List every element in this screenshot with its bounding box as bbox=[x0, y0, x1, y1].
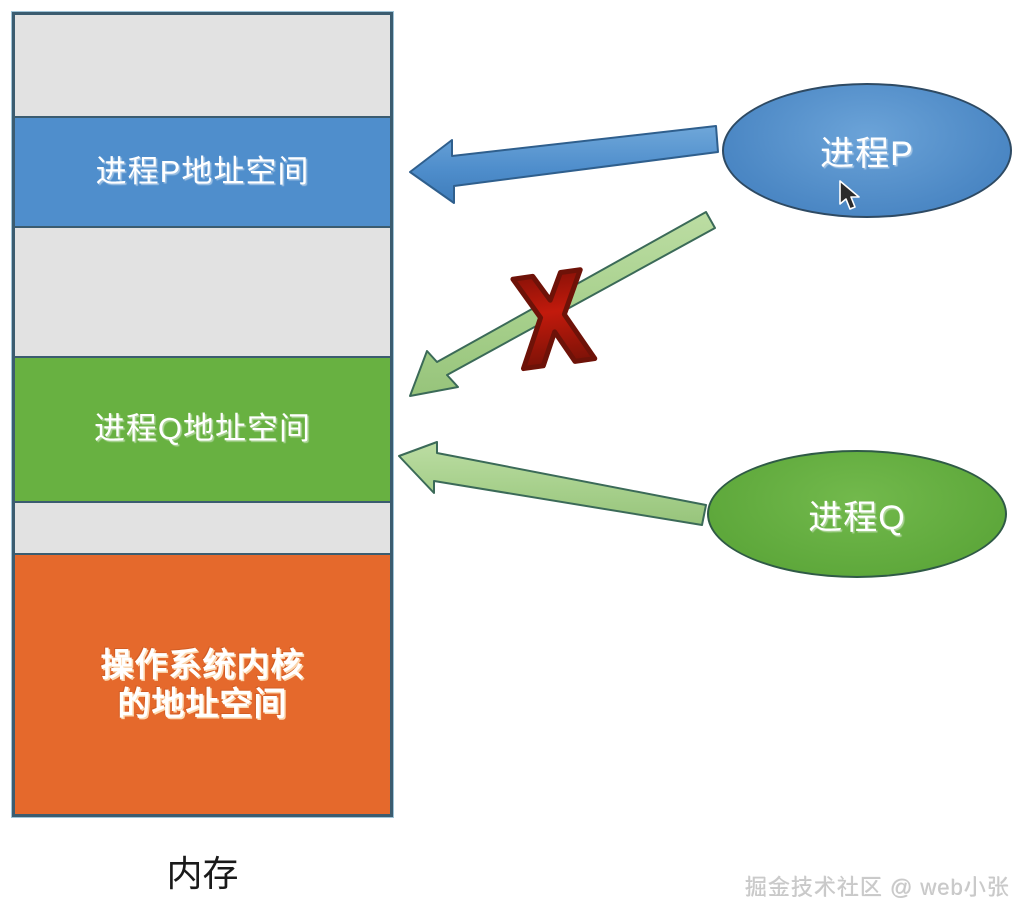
diagram-canvas: 进程P地址空间 进程Q地址空间 操作系统内核 的地址空间 内存 bbox=[0, 0, 1024, 920]
mouse-cursor-icon bbox=[838, 180, 864, 212]
arrow-q-to-q-space bbox=[399, 442, 706, 525]
watermark: 掘金技术社区 @ web小张 bbox=[745, 870, 1010, 902]
process-ellipse-label: 进程P bbox=[820, 126, 914, 175]
process-ellipse-p[interactable]: 进程P bbox=[722, 83, 1012, 218]
arrow-p-to-p-space bbox=[410, 126, 718, 203]
process-ellipse-q[interactable]: 进程Q bbox=[707, 450, 1007, 578]
process-ellipse-label: 进程Q bbox=[808, 490, 905, 539]
